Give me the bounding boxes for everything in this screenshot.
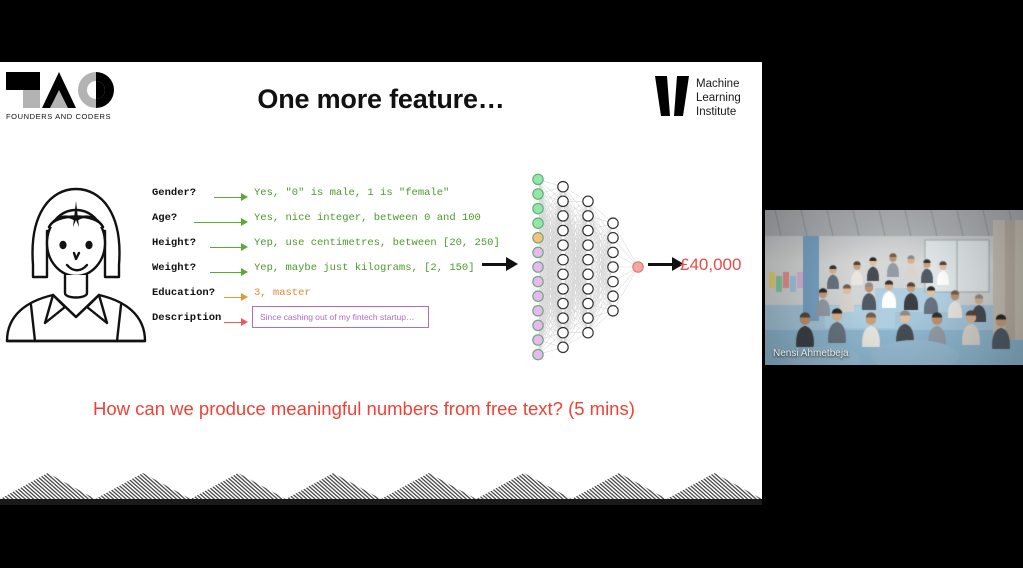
presentation-slide: FOUNDERS AND CODERS Machine Learning Ins… bbox=[0, 62, 762, 505]
feature-label: Description bbox=[152, 312, 221, 324]
hidden-node bbox=[608, 306, 618, 316]
participant-video-feed bbox=[765, 210, 1023, 365]
feature-label: Weight? bbox=[152, 262, 196, 274]
feature-answer: Yes, nice integer, between 0 and 100 bbox=[254, 212, 481, 224]
hidden-node bbox=[583, 298, 593, 308]
feature-arrow-icon bbox=[210, 243, 248, 251]
hidden-node bbox=[558, 240, 568, 250]
hidden-node bbox=[558, 182, 568, 192]
input-node bbox=[533, 320, 543, 330]
hidden-node bbox=[583, 240, 593, 250]
feature-label: Age? bbox=[152, 212, 177, 224]
hidden-node bbox=[583, 328, 593, 338]
hidden-node bbox=[558, 298, 568, 308]
hidden-node bbox=[583, 255, 593, 265]
hatched-mountains-decoration bbox=[0, 443, 762, 505]
hidden-node bbox=[608, 218, 618, 228]
hidden-node bbox=[583, 225, 593, 235]
hidden-node bbox=[608, 291, 618, 301]
hidden-node bbox=[608, 262, 618, 272]
feature-row: Height?Yep, use centimetres, between [20… bbox=[152, 237, 452, 262]
slide-title: One more feature… bbox=[0, 84, 762, 115]
feature-arrow-icon bbox=[214, 193, 248, 201]
feature-answer: Yep, maybe just kilograms, [2, 150] bbox=[254, 262, 475, 274]
hidden-node bbox=[583, 284, 593, 294]
input-node bbox=[533, 291, 543, 301]
input-node bbox=[533, 276, 543, 286]
hidden-node bbox=[558, 255, 568, 265]
feature-row: Age?Yes, nice integer, between 0 and 100 bbox=[152, 212, 452, 237]
hidden-node bbox=[583, 313, 593, 323]
feature-answer: Yes, "0" is male, 1 is "female" bbox=[254, 187, 449, 199]
hidden-node bbox=[583, 196, 593, 206]
input-node bbox=[533, 218, 543, 228]
hidden-node bbox=[558, 196, 568, 206]
input-node bbox=[533, 306, 543, 316]
description-text-box: Since cashing out of my fintech startup… bbox=[252, 306, 429, 328]
output-arrow-icon bbox=[648, 257, 684, 271]
input-node bbox=[533, 203, 543, 213]
feature-row: Gender?Yes, "0" is male, 1 is "female" bbox=[152, 187, 452, 212]
hidden-node bbox=[558, 211, 568, 221]
hidden-node bbox=[558, 328, 568, 338]
feature-label: Height? bbox=[152, 237, 196, 249]
hidden-node bbox=[558, 313, 568, 323]
hidden-node bbox=[558, 284, 568, 294]
input-node bbox=[533, 335, 543, 345]
hidden-node bbox=[558, 342, 568, 352]
hidden-node bbox=[558, 269, 568, 279]
decoration-baseline bbox=[0, 499, 762, 505]
predicted-salary-value: £40,000 bbox=[680, 255, 741, 275]
input-node bbox=[533, 247, 543, 257]
feature-label: Education? bbox=[152, 287, 215, 299]
input-node bbox=[533, 233, 543, 243]
meeting-screen-share-view: FOUNDERS AND CODERS Machine Learning Ins… bbox=[0, 0, 1023, 568]
feature-arrow-icon bbox=[224, 318, 248, 326]
discussion-question: How can we produce meaningful numbers fr… bbox=[93, 398, 635, 420]
output-node bbox=[633, 262, 643, 272]
feature-list: Gender?Yes, "0" is male, 1 is "female"Ag… bbox=[152, 187, 452, 337]
feature-answer: Yep, use centimetres, between [20, 250] bbox=[254, 237, 500, 249]
feature-arrow-icon bbox=[224, 293, 248, 301]
input-node bbox=[533, 174, 543, 184]
hidden-node bbox=[558, 225, 568, 235]
feature-label: Gender? bbox=[152, 187, 196, 199]
participant-video-tile[interactable]: Nensi Ahmetbeja bbox=[765, 210, 1023, 365]
hidden-node bbox=[583, 269, 593, 279]
participant-name-label: Nensi Ahmetbeja bbox=[773, 348, 849, 359]
input-node bbox=[533, 189, 543, 199]
input-node bbox=[533, 349, 543, 359]
person-illustration bbox=[5, 165, 147, 345]
input-node bbox=[533, 262, 543, 272]
hidden-node bbox=[608, 276, 618, 286]
feature-arrow-icon bbox=[194, 218, 248, 226]
feature-row: DescriptionSince cashing out of my finte… bbox=[152, 312, 452, 337]
hidden-node bbox=[583, 211, 593, 221]
feature-arrow-icon bbox=[210, 268, 248, 276]
feature-answer: 3, master bbox=[254, 287, 311, 299]
hidden-node bbox=[608, 233, 618, 243]
hidden-node bbox=[608, 247, 618, 257]
feature-row: Weight?Yep, maybe just kilograms, [2, 15… bbox=[152, 262, 452, 287]
